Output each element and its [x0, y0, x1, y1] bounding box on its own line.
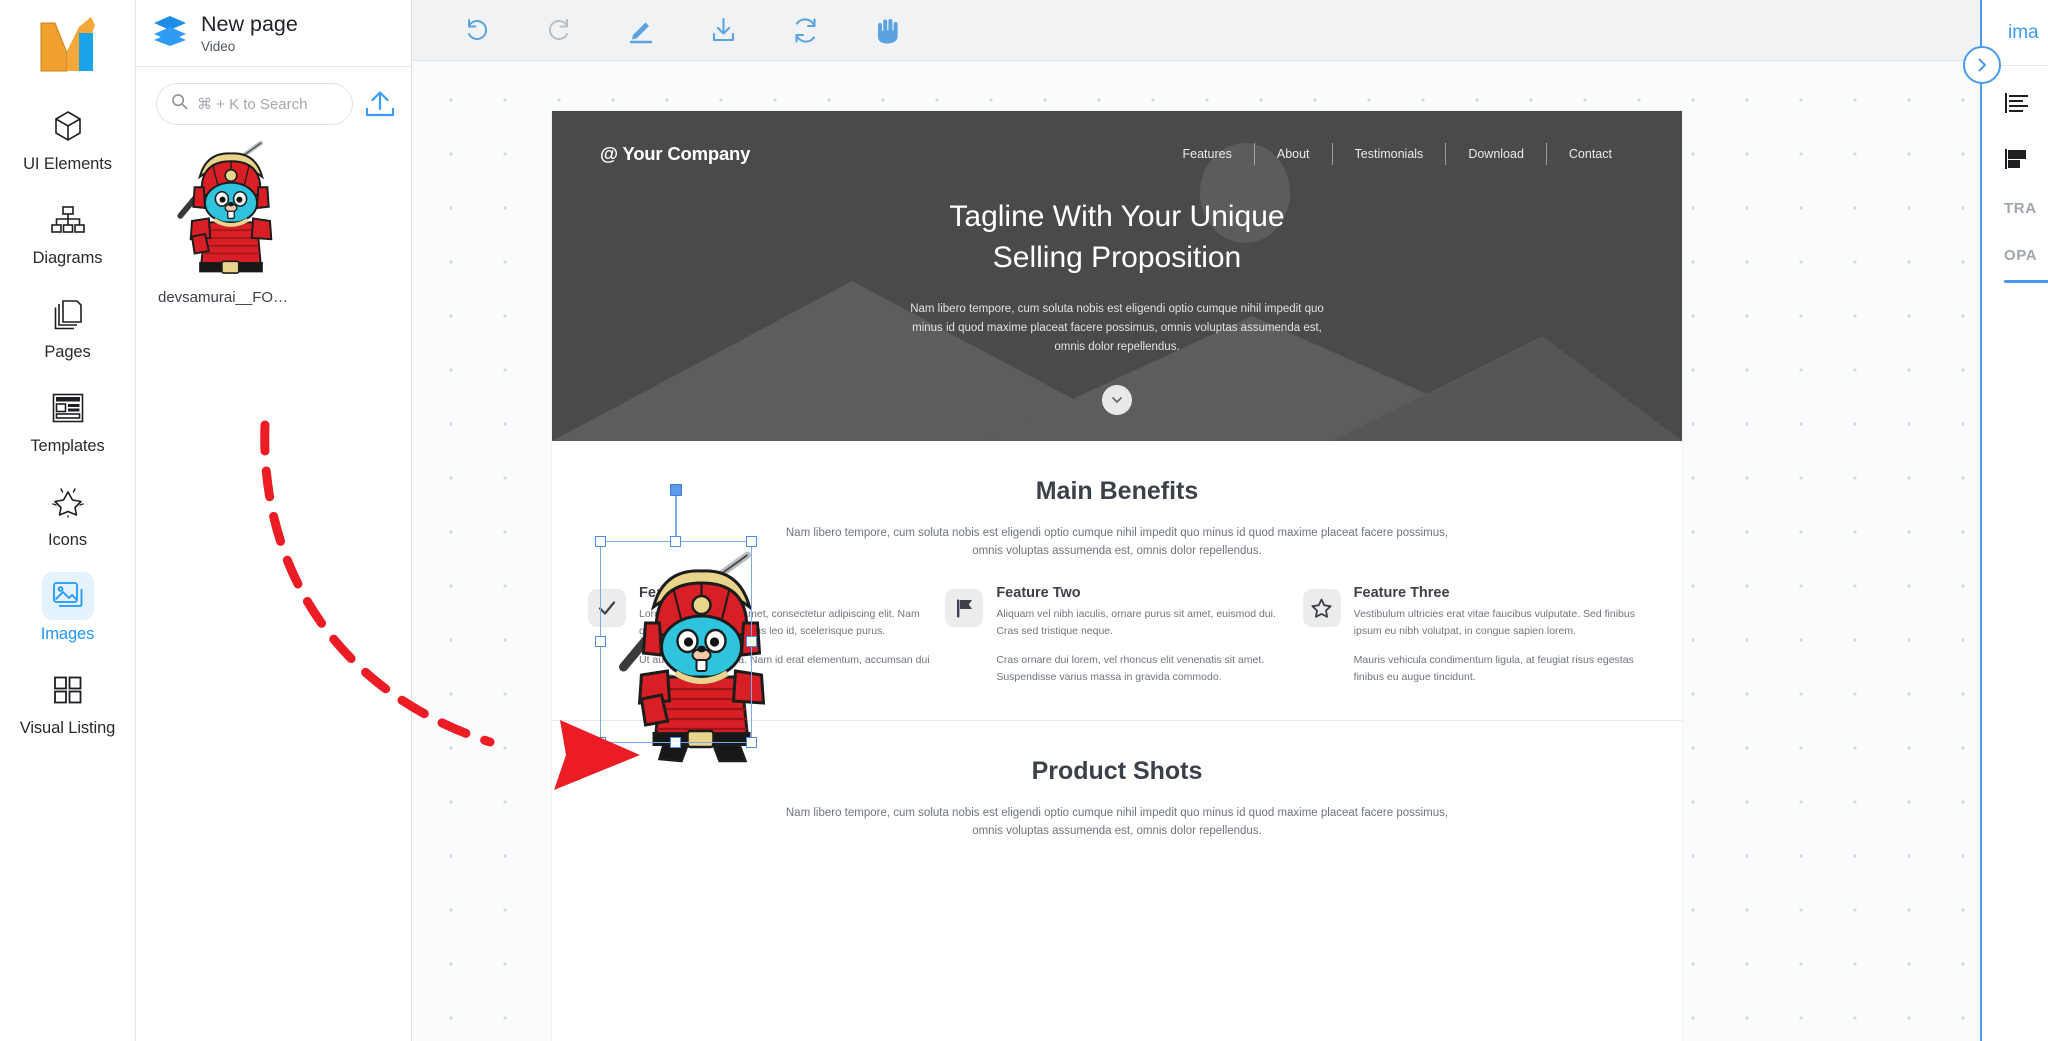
- sidebar-item-label: Pages: [44, 343, 90, 362]
- mockup-logo: @ Your Company: [600, 143, 750, 165]
- search-placeholder: ⌘ + K to Search: [197, 95, 307, 113]
- stage: @ Your Company Features About Testimonia…: [412, 0, 2048, 1041]
- rotate-handle[interactable]: [670, 484, 682, 496]
- mockup-hero: @ Your Company Features About Testimonia…: [552, 111, 1682, 441]
- sidebar-item-label: UI Elements: [23, 155, 112, 174]
- collapse-panel-button[interactable]: [1963, 46, 2001, 84]
- feature-body: Vestibulum ultricies erat vitae faucibus…: [1354, 606, 1646, 640]
- page-title: New page: [201, 12, 298, 37]
- feature-title: Feature Two: [996, 585, 1288, 601]
- sidebar-item-templates[interactable]: Templates: [13, 384, 123, 456]
- feature-card-two[interactable]: Feature Two Aliquam vel nibh iaculis, or…: [945, 585, 1288, 686]
- opacity-section-label: OPA: [1982, 247, 2048, 264]
- properties-title: ima: [2008, 22, 2039, 44]
- resize-handle-middle-left[interactable]: [595, 636, 606, 647]
- star-outline-icon: [1303, 589, 1341, 627]
- hero-subtext: Nam libero tempore, cum soluta nobis est…: [907, 300, 1327, 357]
- sidebar-item-label: Templates: [30, 437, 104, 456]
- scroll-down-button[interactable]: [1102, 385, 1132, 415]
- selection-frame[interactable]: [600, 541, 752, 743]
- four-squares-icon: [42, 666, 94, 714]
- search-icon: [171, 93, 188, 115]
- opacity-slider[interactable]: [2004, 280, 2048, 283]
- feature-body-2: Mauris vehicula condimentum ligula, at f…: [1354, 652, 1646, 686]
- template-grid-icon: [42, 384, 94, 432]
- benefits-intro: Nam libero tempore, cum soluta nobis est…: [772, 524, 1462, 561]
- asset-grid: devsamurai__FO…: [136, 125, 411, 306]
- sidebar-item-label: Diagrams: [33, 249, 103, 268]
- chevron-down-icon: [1110, 393, 1124, 407]
- mockup-navbar: @ Your Company Features About Testimonia…: [552, 111, 1682, 165]
- canvas-toolbar: [412, 0, 2048, 61]
- hero-tagline-line2: Selling Proposition: [552, 238, 1682, 279]
- feature-title: Feature Three: [1354, 585, 1646, 601]
- sidebar-item-visual-listing[interactable]: Visual Listing: [13, 666, 123, 738]
- list-item[interactable]: devsamurai__FO…: [156, 139, 306, 306]
- products-intro: Nam libero tempore, cum soluta nobis est…: [772, 804, 1462, 841]
- edit-button[interactable]: [622, 11, 660, 49]
- chevron-right-icon: [1974, 57, 1990, 73]
- sidebar-item-label: Images: [41, 625, 95, 644]
- resize-handle-bottom-left[interactable]: [595, 737, 606, 748]
- pan-button[interactable]: [868, 11, 906, 49]
- sidebar-item-images[interactable]: Images: [13, 572, 123, 644]
- moqups-m-logo-icon: [35, 15, 101, 75]
- resize-handle-bottom-right[interactable]: [746, 737, 757, 748]
- sidebar-item-label: Icons: [48, 531, 87, 550]
- mockup-nav: Features About Testimonials Download Con…: [1161, 143, 1634, 165]
- properties-panel: ima TRA OPA: [1980, 0, 2048, 1041]
- feature-body: Aliquam vel nibh iaculis, ornare purus s…: [996, 606, 1288, 640]
- app-logo[interactable]: [33, 14, 103, 76]
- panel-header: New page Video: [136, 0, 411, 67]
- sidebar-item-icons[interactable]: Icons: [13, 478, 123, 550]
- sidebar-item-diagrams[interactable]: Diagrams: [13, 196, 123, 268]
- upload-button[interactable]: [363, 87, 397, 121]
- library-panel: New page Video ⌘ + K to Search: [136, 0, 412, 1041]
- search-input[interactable]: ⌘ + K to Search: [156, 83, 353, 125]
- left-rail: UI Elements Diagrams: [0, 0, 136, 1041]
- resize-handle-top-center[interactable]: [670, 536, 681, 547]
- redo-button[interactable]: [540, 11, 578, 49]
- cube-icon: [42, 102, 94, 150]
- nav-link-download[interactable]: Download: [1446, 147, 1546, 161]
- flag-icon: [945, 589, 983, 627]
- transform-section-label: TRA: [1982, 200, 2048, 217]
- hero-tagline: Tagline With Your Unique Selling Proposi…: [552, 197, 1682, 278]
- sidebar-item-pages[interactable]: Pages: [13, 290, 123, 362]
- images-photo-icon: [42, 572, 94, 620]
- pages-stack-icon: [42, 290, 94, 338]
- org-chart-icon: [42, 196, 94, 244]
- distribute-icon[interactable]: [2004, 144, 2034, 174]
- download-button[interactable]: [704, 11, 742, 49]
- nav-link-contact[interactable]: Contact: [1547, 147, 1634, 161]
- refresh-button[interactable]: [786, 11, 824, 49]
- undo-button[interactable]: [458, 11, 496, 49]
- nav-link-about[interactable]: About: [1255, 147, 1332, 161]
- align-left-icon[interactable]: [2004, 88, 2034, 118]
- page-mockup[interactable]: @ Your Company Features About Testimonia…: [552, 111, 1682, 1041]
- feature-card-three[interactable]: Feature Three Vestibulum ultricies erat …: [1303, 585, 1646, 686]
- properties-icon-row: [1982, 66, 2048, 174]
- samurai-gopher-image: [156, 139, 306, 279]
- benefits-heading: Main Benefits: [552, 477, 1682, 506]
- resize-handle-bottom-center[interactable]: [670, 737, 681, 748]
- design-canvas[interactable]: @ Your Company Features About Testimonia…: [412, 61, 2048, 1041]
- rotation-stem: [675, 494, 677, 542]
- asset-name: devsamurai__FO…: [156, 289, 306, 306]
- sparkle-star-icon: [42, 478, 94, 526]
- nav-link-features[interactable]: Features: [1161, 147, 1254, 161]
- sidebar-item-ui-elements[interactable]: UI Elements: [13, 102, 123, 174]
- feature-body-2: Cras ornare dui lorem, vel rhoncus elit …: [996, 652, 1288, 686]
- resize-handle-top-left[interactable]: [595, 536, 606, 547]
- nav-link-testimonials[interactable]: Testimonials: [1333, 147, 1446, 161]
- search-row: ⌘ + K to Search: [136, 67, 411, 125]
- page-subtitle: Video: [201, 39, 298, 54]
- resize-handle-top-right[interactable]: [746, 536, 757, 547]
- resize-handle-middle-right[interactable]: [746, 636, 757, 647]
- hero-tagline-line1: Tagline With Your Unique: [552, 197, 1682, 238]
- layers-icon: [152, 15, 188, 52]
- sidebar-item-label: Visual Listing: [20, 719, 116, 738]
